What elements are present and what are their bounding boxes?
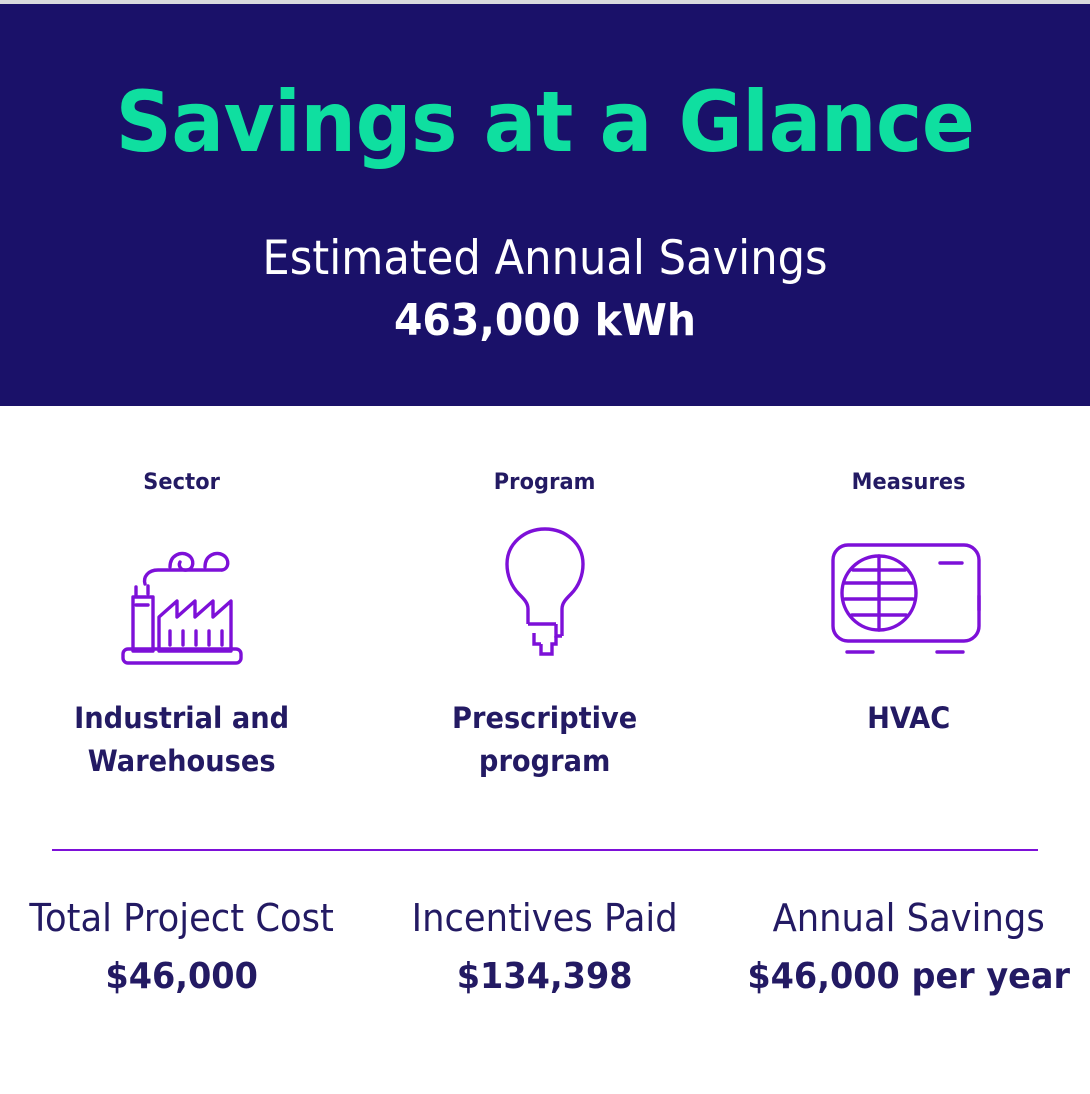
metric-total-project-cost: Total Project Cost $46,000: [0, 896, 363, 998]
header-subtitle: Estimated Annual Savings: [44, 232, 1047, 286]
header-band: Savings at a Glance Estimated Annual Sav…: [0, 4, 1090, 406]
fact-column-program: Program Prescriptive program: [363, 470, 726, 783]
fact-label-program: Prescriptive program: [374, 697, 716, 783]
metrics-row: Total Project Cost $46,000 Incentives Pa…: [0, 896, 1090, 998]
fact-kicker-sector: Sector: [9, 470, 354, 495]
lightbulb-icon: [363, 519, 726, 669]
savings-at-a-glance-card: Savings at a Glance Estimated Annual Sav…: [0, 0, 1090, 1094]
factory-icon: [0, 519, 363, 669]
fact-label-sector-line2: Warehouses: [11, 740, 353, 783]
metric-incentives-paid: Incentives Paid $134,398: [363, 896, 726, 998]
fact-label-sector-line1: Industrial and: [11, 697, 353, 740]
metric-label-incentives-paid: Incentives Paid: [376, 896, 714, 942]
header-savings-value: 463,000 kWh: [38, 296, 1052, 347]
metric-label-total-project-cost: Total Project Cost: [13, 896, 351, 942]
facts-row: Sector: [0, 470, 1090, 783]
fact-label-measures-line1: HVAC: [738, 697, 1080, 740]
page-title: Savings at a Glance: [38, 80, 1052, 164]
fact-label-program-line2: program: [374, 740, 716, 783]
metric-label-annual-savings: Annual Savings: [739, 896, 1077, 942]
fact-column-measures: Measures: [727, 470, 1090, 783]
fact-kicker-program: Program: [372, 470, 717, 495]
fact-label-program-line1: Prescriptive: [374, 697, 716, 740]
metric-value-annual-savings: $46,000 per year: [739, 955, 1077, 998]
fact-column-sector: Sector: [0, 470, 363, 783]
fact-kicker-measures: Measures: [736, 470, 1081, 495]
section-divider: [52, 849, 1038, 851]
hvac-unit-icon: [727, 519, 1090, 669]
metric-annual-savings: Annual Savings $46,000 per year: [727, 896, 1090, 998]
metric-value-incentives-paid: $134,398: [376, 955, 714, 998]
metric-value-total-project-cost: $46,000: [13, 955, 351, 998]
fact-label-sector: Industrial and Warehouses: [11, 697, 353, 783]
fact-label-measures: HVAC: [738, 697, 1080, 740]
